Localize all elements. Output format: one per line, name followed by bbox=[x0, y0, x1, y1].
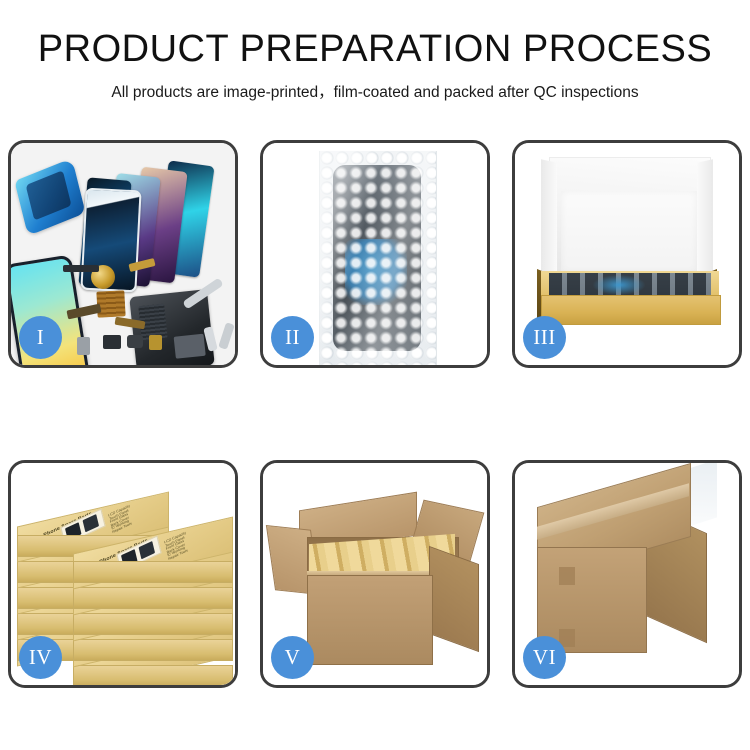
process-step-grid: I II III bbox=[8, 140, 742, 688]
screwdriver-tool-1 bbox=[218, 322, 235, 350]
camera-module-part bbox=[103, 335, 121, 349]
product-box-stack-item-top-right: Mobile Phone Spare Parts LCD Capacity To… bbox=[73, 535, 231, 581]
carton-right-side bbox=[429, 546, 479, 652]
box-label-spec-list: LCD Capacity Touch Panel Front Glass Bac… bbox=[164, 522, 212, 562]
step-badge-4: IV bbox=[19, 636, 62, 679]
page-header: PRODUCT PREPARATION PROCESS All products… bbox=[0, 0, 750, 102]
box-label-spec-list: LCD Capacity Touch Panel Front Glass Bac… bbox=[108, 495, 156, 535]
flat-box-lid-left-flap bbox=[541, 159, 557, 274]
blue-protective-film bbox=[14, 158, 85, 236]
step-badge-1: I bbox=[19, 316, 62, 359]
process-step-panel-2[interactable]: II bbox=[260, 140, 490, 368]
process-step-panel-4[interactable]: Mobile Phone Spare Parts LCD Capacity To… bbox=[8, 460, 238, 688]
process-step-panel-3[interactable]: III bbox=[512, 140, 742, 368]
page-subtitle: All products are image-printed，film-coat… bbox=[0, 80, 750, 102]
process-step-panel-5[interactable]: V bbox=[260, 460, 490, 688]
process-step-panel-1[interactable]: I bbox=[8, 140, 238, 368]
sim-tray-part bbox=[77, 337, 90, 355]
process-step-panel-6[interactable]: VI bbox=[512, 460, 742, 688]
chip-array-part bbox=[96, 290, 125, 317]
battery-connector-part bbox=[149, 335, 162, 350]
step-badge-6: VI bbox=[523, 636, 566, 679]
flat-box-lid-right-flap bbox=[697, 159, 713, 274]
page-title: PRODUCT PREPARATION PROCESS bbox=[0, 30, 750, 70]
packed-screens-row bbox=[549, 273, 711, 297]
carton-front-face bbox=[307, 575, 433, 665]
earpiece-mesh-part bbox=[63, 265, 99, 272]
plastic-sheen-overlay bbox=[319, 151, 435, 365]
step-badge-2: II bbox=[271, 316, 314, 359]
step-badge-5: V bbox=[271, 636, 314, 679]
foam-lining bbox=[561, 191, 697, 273]
carton-corner-patch-top bbox=[559, 567, 575, 585]
taptic-engine-part bbox=[127, 335, 143, 348]
step-badge-3: III bbox=[523, 316, 566, 359]
flat-box-tray-front bbox=[541, 295, 721, 325]
